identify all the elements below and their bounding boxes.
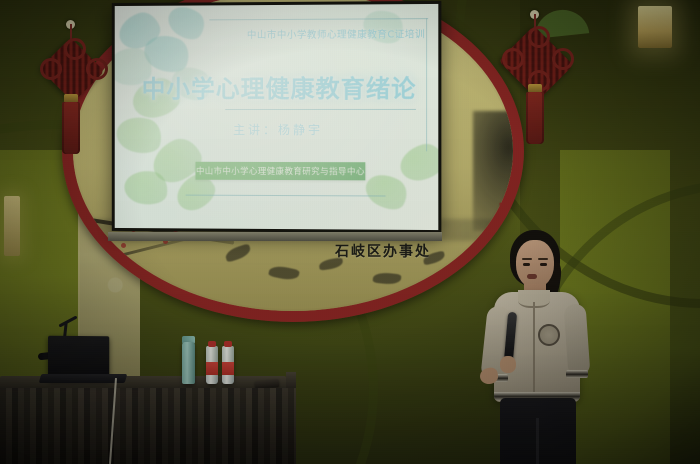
thermos-flask <box>182 342 195 384</box>
knot-tassel <box>62 102 80 154</box>
presenter-trousers <box>500 398 576 464</box>
slide-rule-mid <box>225 109 416 110</box>
presenter-face <box>516 240 554 288</box>
knot-tassel <box>526 92 544 144</box>
presenter-eye <box>523 263 530 266</box>
slide-kicker-text: 中山市中小学教师心理健康教育C证培训 <box>209 26 425 41</box>
wall-sconce-left <box>4 196 20 256</box>
slide-title-text: 中小学心理健康教育绪论 <box>115 69 439 105</box>
knot-loop <box>40 58 62 80</box>
knot-loop <box>86 58 108 80</box>
bottle-cap <box>224 341 232 347</box>
bottle-cap <box>208 341 216 347</box>
presenter-table-skirt <box>0 388 296 464</box>
presenter-hand-holding-mic <box>500 356 516 373</box>
mural-text-label: 石岐区办事处 <box>335 241 431 261</box>
presenter-eyebrow <box>522 258 532 260</box>
mural-fish <box>224 243 252 262</box>
presenter-eyebrow <box>538 258 548 260</box>
mural-fish <box>373 272 402 286</box>
mural-blossom <box>121 243 126 248</box>
wall-sconce-right <box>638 6 672 48</box>
projection-screen: 中山市中小学教师心理健康教育C证培训 中小学心理健康教育绪论 主讲：杨静宇 中山… <box>112 1 442 233</box>
slide-organization-band: 中山市中小学心理健康教育研究与指导中心 <box>195 162 365 181</box>
slide-presenter-text: 主讲：杨静宇 <box>115 121 439 138</box>
presentation-slide: 中山市中小学教师心理健康教育C证培训 中小学心理健康教育绪论 主讲：杨静宇 中山… <box>115 4 439 230</box>
slide-rule-bottom <box>186 195 386 197</box>
jacket-cuff <box>566 370 588 378</box>
projection-screen-bottom-bar <box>108 232 442 241</box>
bottle-label <box>222 362 234 375</box>
presenter-mouth <box>527 274 537 279</box>
leaf-graphic <box>396 140 438 185</box>
presenter-eye <box>540 263 547 266</box>
presenter-jacket-emblem <box>538 324 560 346</box>
knot-loop <box>64 38 86 60</box>
knot-loop <box>552 48 574 70</box>
presenter-table-edge <box>286 372 296 388</box>
presenter-person <box>470 228 610 464</box>
photo-scene: 石岐区办事处 方 堂 <box>0 0 700 464</box>
presenter-jacket-zipper <box>533 302 535 398</box>
bottle-label <box>206 362 218 375</box>
mural-fish <box>268 264 300 282</box>
presenter-right-arm <box>564 303 591 376</box>
knot-loop <box>528 26 550 48</box>
knot-loop <box>502 48 524 70</box>
